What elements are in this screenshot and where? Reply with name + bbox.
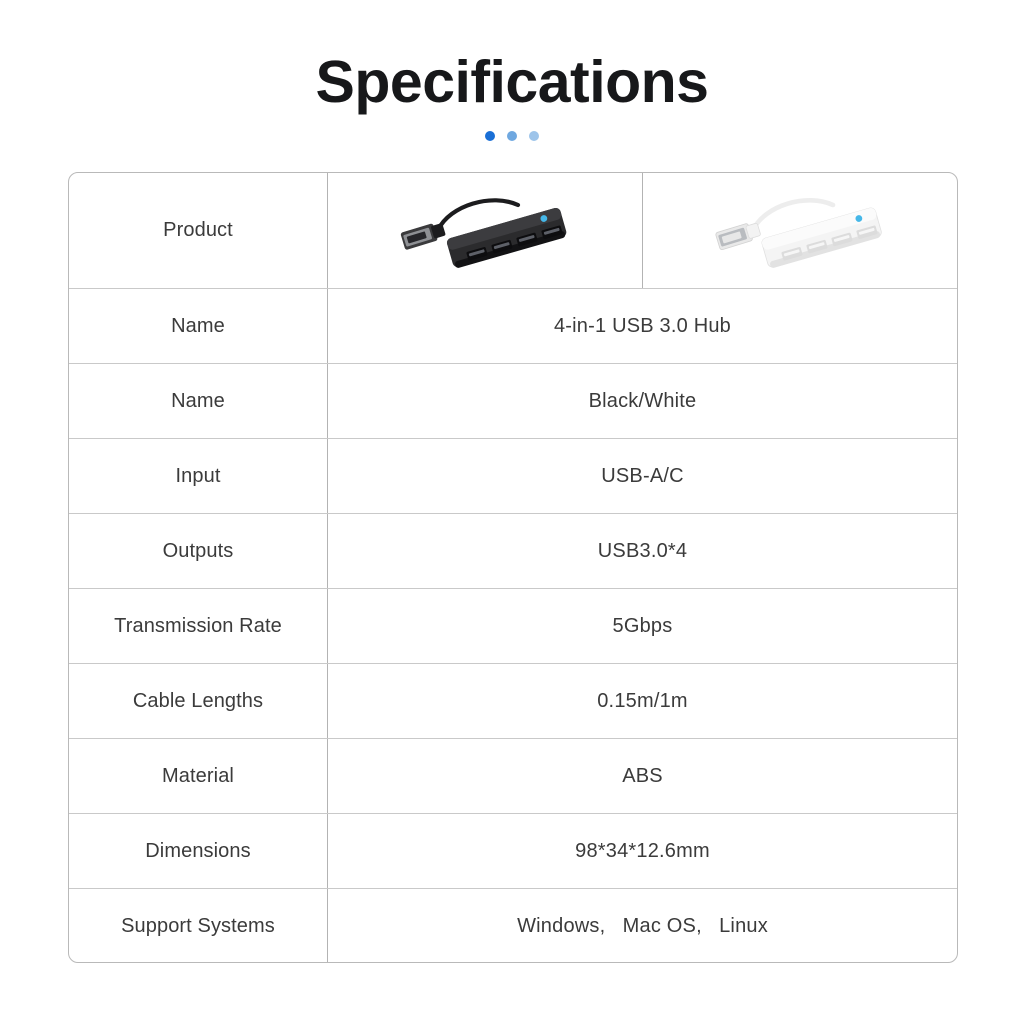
specifications-table: Product [68, 172, 958, 963]
table-row: Outputs USB3.0*4 [69, 514, 957, 589]
table-row: Name Black/White [69, 364, 957, 439]
product-image-white-cell [643, 173, 957, 288]
row-label: Input [69, 439, 328, 513]
row-label: Material [69, 739, 328, 813]
page-title: Specifications [0, 52, 1024, 114]
table-row: Name 4-in-1 USB 3.0 Hub [69, 289, 957, 364]
table-row: Cable Lengths 0.15m/1m [69, 664, 957, 739]
table-row: Material ABS [69, 739, 957, 814]
row-label: Name [69, 289, 328, 363]
row-label: Outputs [69, 514, 328, 588]
table-row: Dimensions 98*34*12.6mm [69, 814, 957, 889]
table-row-product: Product [69, 173, 957, 289]
row-label: Cable Lengths [69, 664, 328, 738]
dot-3-icon [529, 131, 539, 141]
specifications-page: Specifications Product [0, 0, 1024, 1024]
row-value: Black/White [328, 364, 957, 438]
row-value: 5Gbps [328, 589, 957, 663]
table-row: Support Systems Windows, Mac OS, Linux [69, 889, 957, 963]
dot-active-icon [485, 131, 495, 141]
row-label: Transmission Rate [69, 589, 328, 663]
table-row: Input USB-A/C [69, 439, 957, 514]
row-label: Name [69, 364, 328, 438]
usb-hub-white-icon [695, 183, 905, 279]
row-label: Dimensions [69, 814, 328, 888]
table-row: Transmission Rate 5Gbps [69, 589, 957, 664]
row-label: Support Systems [69, 889, 328, 963]
usb-hub-black-icon [380, 183, 590, 279]
product-image-black-cell [328, 173, 643, 288]
row-value: 98*34*12.6mm [328, 814, 957, 888]
row-value: Windows, Mac OS, Linux [328, 889, 957, 963]
row-value: ABS [328, 739, 957, 813]
dot-indicator [0, 131, 1024, 141]
row-value: 0.15m/1m [328, 664, 957, 738]
row-value: USB-A/C [328, 439, 957, 513]
row-value: USB3.0*4 [328, 514, 957, 588]
dot-2-icon [507, 131, 517, 141]
row-label: Product [69, 173, 328, 288]
row-value: 4-in-1 USB 3.0 Hub [328, 289, 957, 363]
page-header: Specifications [0, 52, 1024, 141]
